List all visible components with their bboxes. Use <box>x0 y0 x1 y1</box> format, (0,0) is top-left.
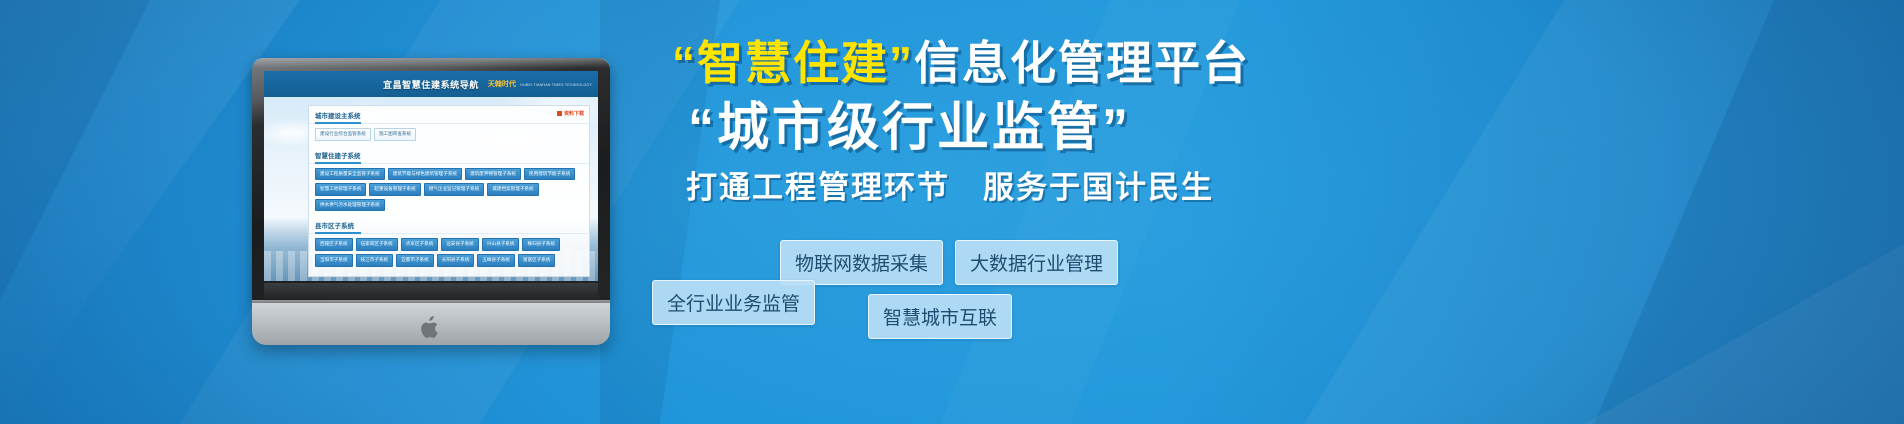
screen-nav-chip[interactable]: 伍家岗区子系统 <box>356 238 398 251</box>
screen-nav-chip[interactable]: 宜都市子系统 <box>396 254 434 267</box>
screen-brand-main: 天翰时代 <box>488 81 516 88</box>
screen-nav-chip[interactable]: 建设工程质量安全监管子系统 <box>315 168 385 181</box>
screen-section-title-1: 智慧住建子系统 <box>309 146 589 164</box>
screen-nav-chip[interactable]: 智慧工地管理子系统 <box>315 183 366 196</box>
screen-nav-chip[interactable]: 秭归县子系统 <box>522 238 560 251</box>
download-badge[interactable]: 资料下载 <box>557 110 584 117</box>
screen-nav-chip[interactable]: 民用建筑节能子系统 <box>524 168 575 181</box>
screen-nav-chip[interactable]: 当阳市子系统 <box>315 254 353 267</box>
screen-nav-chip[interactable]: 起重设备管理子系统 <box>369 183 420 196</box>
download-badge-label: 资料下载 <box>564 110 584 117</box>
download-icon <box>557 111 562 116</box>
monitor-screen: 宜昌智慧住建系统导航 天翰时代 HUBEI TIANHAN TIMES TECH… <box>264 71 598 281</box>
monitor-stand <box>252 303 610 345</box>
screen-nav-chip[interactable]: 建设行业综合监管系统 <box>315 128 371 141</box>
screen-nav-chip[interactable]: 长阳县子系统 <box>437 254 475 267</box>
screen-nav-chip[interactable]: 西陵区子系统 <box>315 238 353 251</box>
screen-section-title-0: 城市建设主系统 <box>309 106 589 124</box>
screen-nav-chip[interactable]: 城建档案管理子系统 <box>487 183 538 196</box>
headline-line-1: “智慧住建”信息化管理平台 <box>672 40 1820 86</box>
screen-nav-chip[interactable]: 富富区子系统 <box>518 254 556 267</box>
screen-section-items-2: 西陵区子系统 伍家岗区子系统 点军区子系统 远安县子系统 兴山县子系统 秭归县子… <box>309 234 589 271</box>
monitor-chin <box>264 283 598 299</box>
feature-tag-bigdata[interactable]: 大数据行业管理 <box>955 240 1118 285</box>
screen-nav-chip[interactable]: 五峰县子系统 <box>477 254 515 267</box>
screen-nav-chip[interactable]: 点军区子系统 <box>401 238 439 251</box>
screen-nav-chip[interactable]: 兴山县子系统 <box>482 238 520 251</box>
headline-line-2: “城市级行业监管” <box>688 102 1820 154</box>
screen-nav-chip[interactable]: 远安县子系统 <box>441 238 479 251</box>
screen-brand-logo: 天翰时代 HUBEI TIANHAN TIMES TECHNOLOGY <box>488 74 592 90</box>
headline-line-1-quoted: “智慧住建” <box>672 37 914 89</box>
screen-section-title-2: 县市区子系统 <box>309 216 589 234</box>
screen-nav-panel: 城市建设主系统 资料下载 建设行业综合监管系统 施工图审查系统 智慧住建子系统 … <box>308 105 590 277</box>
screen-nav-chip[interactable]: 建筑节能与绿色建筑管理子系统 <box>388 168 462 181</box>
promo-banner: 宜昌智慧住建系统导航 天翰时代 HUBEI TIANHAN TIMES TECH… <box>0 0 1904 424</box>
screen-nav-chip[interactable]: 建筑废弃物管理子系统 <box>465 168 521 181</box>
headline-line-1-rest: 信息化管理平台 <box>914 37 1250 89</box>
screen-topbar-title: 宜昌智慧住建系统导航 <box>383 78 479 91</box>
screen-nav-chip[interactable]: 供水供气污水处理管理子系统 <box>315 199 385 212</box>
headline-line-3: 打通工程管理环节 服务于国计民生 <box>686 172 1820 203</box>
headline-block: “智慧住建”信息化管理平台 “城市级行业监管” 打通工程管理环节 服务于国计民生 <box>640 40 1820 203</box>
apple-logo-icon <box>420 315 442 341</box>
screen-nav-chip[interactable]: 施工图审查系统 <box>374 128 416 141</box>
feature-tag-iot[interactable]: 物联网数据采集 <box>780 240 943 285</box>
desktop-monitor-mockup: 宜昌智慧住建系统导航 天翰时代 HUBEI TIANHAN TIMES TECH… <box>252 58 610 303</box>
screen-brand-sub: HUBEI TIANHAN TIMES TECHNOLOGY <box>520 83 592 87</box>
feature-tag-smart-city[interactable]: 智慧城市互联 <box>868 294 1012 339</box>
screen-nav-chip[interactable]: 燃气企业监记管理子系统 <box>424 183 485 196</box>
screen-section-items-1: 建设工程质量安全监管子系统 建筑节能与绿色建筑管理子系统 建筑废弃物管理子系统 … <box>309 164 589 217</box>
screen-nav-chip[interactable]: 枝江市子系统 <box>356 254 394 267</box>
screen-topbar: 宜昌智慧住建系统导航 天翰时代 HUBEI TIANHAN TIMES TECH… <box>264 71 598 97</box>
screen-section-items-0: 建设行业综合监管系统 施工图审查系统 <box>309 124 589 146</box>
feature-tag-business-supervision[interactable]: 全行业业务监管 <box>652 280 815 325</box>
